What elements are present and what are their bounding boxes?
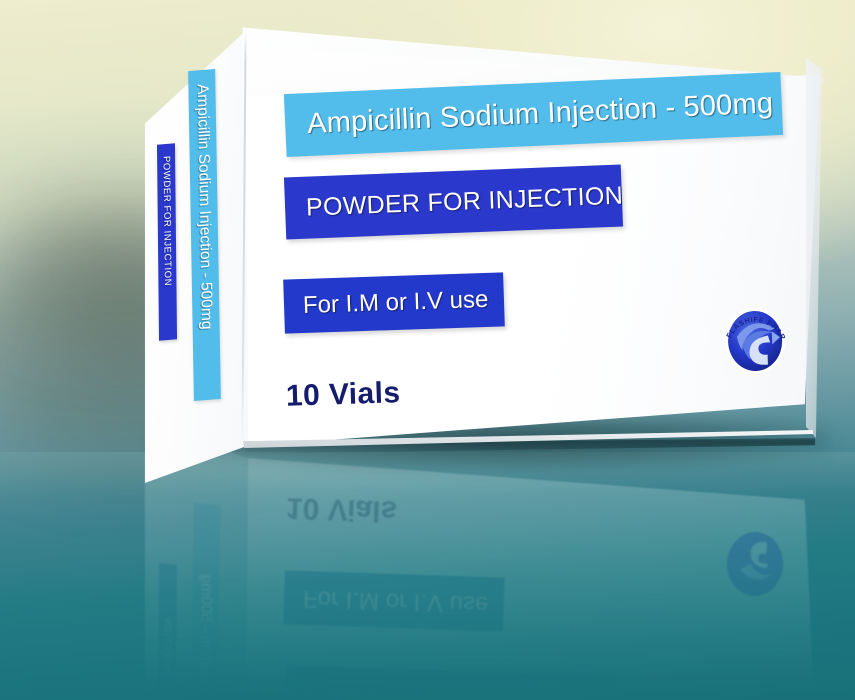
administration-route-band: For I.M or I.V use (283, 272, 505, 333)
front-panel-content: Ampicillin Sodium Injection - 500mg POWD… (243, 28, 821, 446)
product-carton[interactable]: Ampicillin Sodium Injection - 500mg POWD… (0, 0, 855, 700)
side-dosage-form-band: POWDER FOR INJECTION (157, 143, 177, 340)
dosage-form-band: POWDER FOR INJECTION (284, 165, 623, 240)
manufacturer-logo-icon: FLASHIFE PHARM (719, 299, 792, 377)
scene-stage: Ampicillin Sodium Injection - 500mg POWD… (0, 0, 855, 700)
vial-count-text: 10 Vials (285, 376, 400, 414)
product-title-band: Ampicillin Sodium Injection - 500mg (284, 72, 783, 157)
side-panel-content: Ampicillin Sodium Injection - 500mg POWD… (141, 28, 251, 483)
side-product-title-band: Ampicillin Sodium Injection - 500mg (188, 69, 221, 401)
